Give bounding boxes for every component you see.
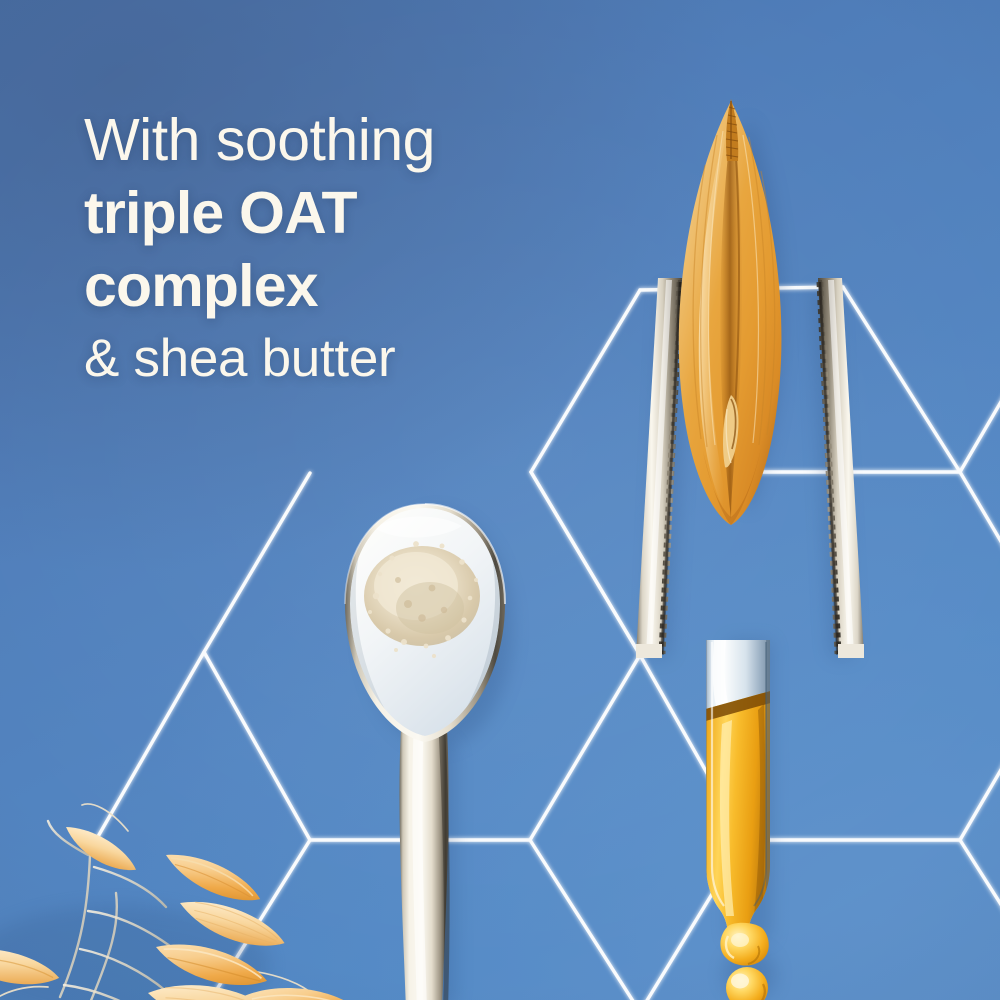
spoon-with-oat-powder	[330, 500, 520, 1000]
headline: With soothing triple OAT complex & shea …	[84, 104, 704, 395]
dropper-with-oil	[670, 640, 820, 1000]
oat-sprigs	[0, 735, 370, 1000]
headline-line-3: complex	[84, 250, 704, 323]
headline-line-1: With soothing	[84, 104, 704, 177]
headline-line-2: triple OAT	[84, 177, 704, 250]
headline-line-4: & shea butter	[84, 323, 704, 395]
advertisement-canvas: With soothing triple OAT complex & shea …	[0, 0, 1000, 1000]
